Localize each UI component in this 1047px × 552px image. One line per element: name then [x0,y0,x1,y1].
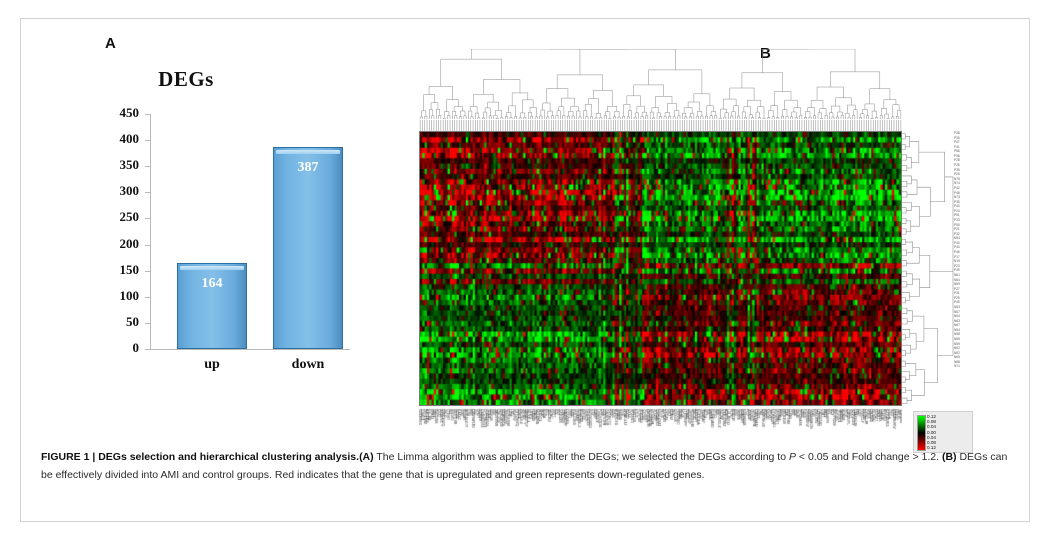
y-axis-tick-label: 100 [93,288,139,304]
bar-up[interactable]: 164 [177,263,247,349]
panel-b-heatmap: B P38P30P47P41P56P36P28P25P39P26N75N74P4… [396,31,1021,436]
caption-a-text-2: < 0.05 and Fold change > 1.2. [796,451,942,463]
chart-title: DEGs [21,67,351,92]
column-dendrogram-path [420,49,901,121]
x-axis-label-down: down [248,357,368,373]
panel-a-bar-chart: A DEGs 450400350300250200150100500 16438… [21,19,381,419]
y-axis-tick [145,245,151,246]
column-gene-labels [419,407,902,451]
leaf-tick-bar [419,120,902,131]
leaf-ticks [420,120,901,131]
figure-caption: FIGURE 1 | DEGs selection and hierarchic… [41,449,1011,484]
y-axis-line [150,114,151,350]
row-sample-labels: P38P30P47P41P56P36P28P25P39P26N75N74P42P… [954,131,980,406]
y-axis-tick [145,114,151,115]
panel-a-letter: A [105,35,116,52]
y-axis-tick-label: 50 [93,314,139,330]
bar-down[interactable]: 387 [273,147,343,349]
bar-highlight [180,266,244,270]
bar-value-label: 387 [274,160,342,176]
y-axis-tick-label: 200 [93,236,139,252]
caption-p-symbol: P [789,451,796,463]
y-axis-tick-label: 350 [93,157,139,173]
row-sample-label: N71 [954,364,980,369]
color-key-legend: 0.120.080.040.000.040.080.12 [913,411,973,453]
bar-highlight [276,150,340,154]
y-axis-tick [145,140,151,141]
x-axis-line [150,349,350,350]
y-axis-tick [145,218,151,219]
caption-b-tag: (B) [942,451,957,463]
caption-figure-number: FIGURE 1 | DEGs selection and hierarchic… [41,451,359,463]
bar-value-label: 164 [178,276,246,292]
y-axis-tick [145,349,151,350]
y-axis-tick [145,323,151,324]
row-dendrogram-svg [902,131,954,406]
row-dendrogram [902,131,954,406]
column-dendrogram [419,49,902,121]
y-axis-tick-label: 300 [93,183,139,199]
y-axis-tick-label: 150 [93,262,139,278]
y-axis-tick [145,166,151,167]
color-key-gradient [917,415,926,451]
row-dendrogram-path [902,134,953,404]
y-axis-tick-label: 400 [93,131,139,147]
y-axis-tick [145,297,151,298]
column-dendrogram-leaves [419,119,902,131]
figure-frame: A DEGs 450400350300250200150100500 16438… [20,18,1030,522]
caption-a-text-1: The Limma algorithm was applied to filte… [374,451,789,463]
y-axis-tick [145,192,151,193]
heatmap-grid [419,131,902,406]
y-axis-tick-label: 250 [93,209,139,225]
column-dendrogram-svg [419,49,902,121]
y-axis-tick-label: 450 [93,105,139,121]
y-axis-tick [145,271,151,272]
y-axis-tick-label: 0 [93,340,139,356]
caption-a-tag: (A) [359,451,374,463]
